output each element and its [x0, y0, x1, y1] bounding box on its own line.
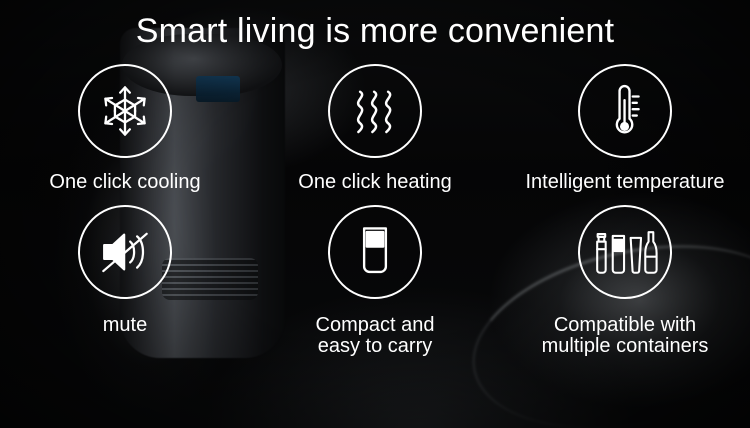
heat-waves-icon — [348, 83, 402, 139]
feature-item-containers: Compatible with multiple containers — [500, 205, 750, 357]
feature-item-compact: Compact and easy to carry — [250, 205, 500, 357]
feature-item-cooling: One click cooling — [0, 64, 250, 193]
feature-row-2: mute Compact and easy to carry — [0, 205, 750, 357]
cup-icon — [353, 223, 397, 281]
feature-item-temperature: Intelligent temperature — [500, 64, 750, 193]
feature-item-mute: mute — [0, 205, 250, 357]
mute-speaker-icon — [97, 226, 153, 278]
bottles-icon-frame — [578, 205, 672, 299]
mute-speaker-icon-frame — [78, 205, 172, 299]
feature-item-heating: One click heating — [250, 64, 500, 193]
page-title: Smart living is more convenient — [0, 12, 750, 51]
thermometer-icon — [600, 82, 650, 140]
feature-label: One click heating — [298, 172, 451, 193]
feature-label: Intelligent temperature — [525, 172, 724, 193]
feature-label: Compatible with multiple containers — [542, 315, 709, 357]
snowflake-icon — [97, 83, 153, 139]
thermometer-icon-frame — [578, 64, 672, 158]
poster-content: Smart living is more convenient — [0, 0, 750, 428]
feature-label: Compact and easy to carry — [316, 315, 435, 357]
cup-icon-frame — [328, 205, 422, 299]
feature-grid: One click cooling One click heating — [0, 64, 750, 358]
bottles-icon — [592, 228, 658, 276]
heat-waves-icon-frame — [328, 64, 422, 158]
snowflake-icon-frame — [78, 64, 172, 158]
feature-label: One click cooling — [49, 172, 200, 193]
promo-poster: Smart living is more convenient — [0, 0, 750, 428]
feature-row-1: One click cooling One click heating — [0, 64, 750, 193]
feature-label: mute — [103, 315, 147, 336]
